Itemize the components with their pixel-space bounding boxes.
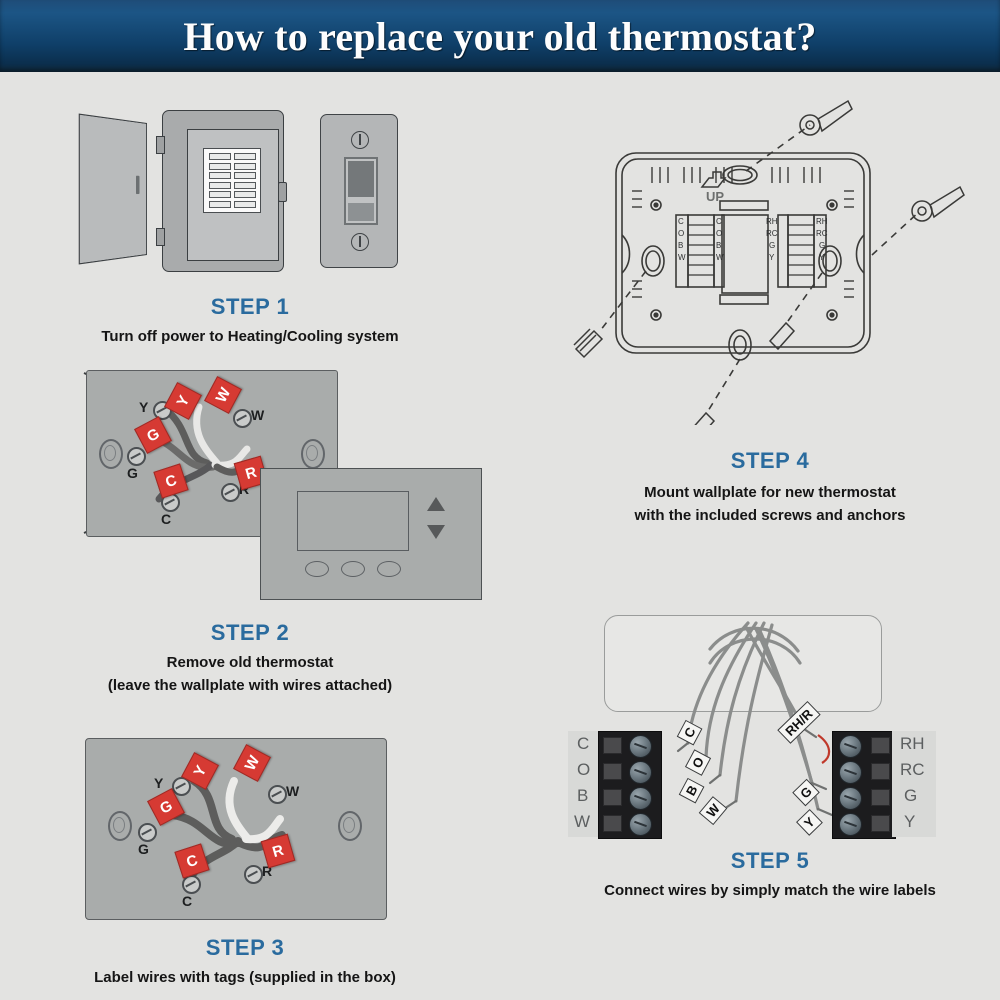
terminal-label-y: Y bbox=[139, 399, 148, 415]
terminal-clip bbox=[603, 815, 622, 832]
svg-text:RC: RC bbox=[816, 229, 828, 238]
breaker-switch bbox=[209, 191, 231, 198]
breaker-panel-door[interactable] bbox=[79, 114, 147, 265]
light-switch-toggle[interactable] bbox=[344, 157, 378, 225]
left-terminal-label-c: C bbox=[577, 734, 589, 754]
screw-icon bbox=[351, 233, 369, 251]
right-terminal-label-g: G bbox=[904, 786, 917, 806]
terminal-clip bbox=[603, 737, 622, 754]
svg-text:G: G bbox=[769, 241, 775, 250]
terminal-label-c: C bbox=[161, 511, 171, 527]
step-3-heading-wrap: STEP 3 Label wires with tags (supplied i… bbox=[30, 935, 460, 990]
toggle-lower-half-icon bbox=[348, 203, 374, 221]
terminal-screw[interactable] bbox=[629, 735, 652, 758]
step-2-heading: STEP 2 bbox=[40, 620, 460, 646]
terminal-screw[interactable] bbox=[629, 787, 652, 810]
svg-text:O: O bbox=[678, 229, 684, 238]
panel-latch-icon bbox=[278, 182, 287, 202]
right-terminal-label-rh: RH bbox=[900, 734, 925, 754]
breaker-column-left bbox=[209, 153, 231, 208]
down-arrow-icon[interactable] bbox=[427, 525, 445, 539]
step-1-illustration bbox=[70, 100, 450, 290]
terminal-label-y: Y bbox=[154, 775, 163, 791]
terminal-clip bbox=[871, 815, 890, 832]
step-5-heading: STEP 5 bbox=[560, 848, 980, 874]
breaker-switch bbox=[234, 201, 256, 208]
svg-text:O: O bbox=[716, 229, 722, 238]
right-terminal-block: RH RC G Y bbox=[832, 731, 942, 837]
svg-text:UP: UP bbox=[706, 189, 724, 204]
panel-hinge-bottom-icon bbox=[156, 228, 165, 246]
svg-text:Y: Y bbox=[819, 253, 825, 262]
step-4-heading-wrap: STEP 4 Mount wallplate for new thermosta… bbox=[560, 448, 980, 527]
svg-text:W: W bbox=[716, 253, 724, 262]
terminal-screw[interactable] bbox=[839, 813, 862, 836]
step-4-heading: STEP 4 bbox=[560, 448, 980, 474]
breaker-panel-interior bbox=[187, 129, 279, 261]
terminal-clip bbox=[871, 763, 890, 780]
terminal-screw[interactable] bbox=[839, 735, 862, 758]
terminal-label-w: W bbox=[251, 407, 264, 423]
page-title: How to replace your old thermostat? bbox=[183, 13, 816, 60]
terminal-screw[interactable] bbox=[839, 787, 862, 810]
svg-text:C: C bbox=[678, 217, 684, 226]
step-1-heading: STEP 1 bbox=[40, 294, 460, 320]
step-3-caption-line-1: Label wires with tags (supplied in the b… bbox=[30, 967, 460, 990]
svg-text:RH: RH bbox=[766, 217, 778, 226]
old-wallplate-step3: Y W G C R Y W G C R bbox=[85, 738, 387, 920]
terminal-label-w: W bbox=[286, 783, 299, 799]
terminal-label-g: G bbox=[127, 465, 138, 481]
page-banner: How to replace your old thermostat? bbox=[0, 0, 1000, 72]
svg-text:RC: RC bbox=[766, 229, 778, 238]
terminal-clip bbox=[603, 789, 622, 806]
terminal-screw-r bbox=[244, 865, 263, 884]
breaker-switch bbox=[234, 172, 256, 179]
breaker-switch bbox=[234, 191, 256, 198]
step-1-heading-wrap: STEP 1 Turn off power to Heating/Cooling… bbox=[40, 294, 460, 349]
thermostat-button-1[interactable] bbox=[305, 561, 329, 577]
breaker-switch bbox=[209, 172, 231, 179]
terminal-clip bbox=[871, 789, 890, 806]
breaker-switch bbox=[234, 153, 256, 160]
terminal-screw-r bbox=[221, 483, 240, 502]
right-terminal-label-y: Y bbox=[904, 812, 915, 832]
thermostat-button-3[interactable] bbox=[377, 561, 401, 577]
breaker-switch bbox=[234, 182, 256, 189]
left-terminal-block: C O B W bbox=[568, 731, 668, 837]
step-2-caption-line-1: Remove old thermostat bbox=[40, 652, 460, 675]
thermostat-display bbox=[297, 491, 409, 551]
door-handle-icon bbox=[136, 176, 139, 194]
step-2-illustration: Y W G C R Y W G C R bbox=[60, 360, 510, 620]
terminal-label-c: C bbox=[182, 893, 192, 909]
svg-text:W: W bbox=[678, 253, 686, 262]
left-terminal-label-b: B bbox=[577, 786, 588, 806]
step-5-illustration: C O B W RH/R G Y C O B W bbox=[560, 605, 980, 850]
breaker-switch bbox=[209, 153, 231, 160]
breaker-switch-array bbox=[203, 148, 261, 213]
breaker-switch bbox=[234, 163, 256, 170]
terminal-screw-g bbox=[138, 823, 157, 842]
thermostat-button-2[interactable] bbox=[341, 561, 365, 577]
svg-text:B: B bbox=[716, 241, 721, 250]
terminal-screw[interactable] bbox=[629, 761, 652, 784]
new-wallplate-line-art: UP COBW COBW RHRCGY RHRCGY bbox=[560, 95, 980, 425]
terminal-screw[interactable] bbox=[839, 761, 862, 784]
toggle-upper-half-icon bbox=[348, 161, 374, 197]
breaker-switch bbox=[209, 201, 231, 208]
screw-icon bbox=[351, 131, 369, 149]
terminal-label-g: G bbox=[138, 841, 149, 857]
step-1-caption-line-1: Turn off power to Heating/Cooling system bbox=[40, 326, 460, 349]
terminal-screw[interactable] bbox=[629, 813, 652, 836]
terminal-screw-w bbox=[268, 785, 287, 804]
panel-hinge-top-icon bbox=[156, 136, 165, 154]
step-3-heading: STEP 3 bbox=[30, 935, 460, 961]
breaker-switch bbox=[209, 182, 231, 189]
right-terminal-label-rc: RC bbox=[900, 760, 925, 780]
svg-text:B: B bbox=[678, 241, 683, 250]
breaker-switch bbox=[209, 163, 231, 170]
step-4-illustration: UP COBW COBW RHRCGY RHRCGY bbox=[560, 95, 980, 425]
svg-text:Y: Y bbox=[769, 253, 775, 262]
step-3-illustration: Y W G C R Y W G C R bbox=[85, 738, 385, 918]
terminal-clip bbox=[603, 763, 622, 780]
breaker-column-right bbox=[234, 153, 256, 208]
step-5-heading-wrap: STEP 5 Connect wires by simply match the… bbox=[560, 848, 980, 903]
svg-text:G: G bbox=[819, 241, 825, 250]
left-terminal-label-o: O bbox=[577, 760, 590, 780]
terminal-clip bbox=[871, 737, 890, 754]
left-block-body bbox=[598, 731, 662, 839]
terminal-screw-g bbox=[127, 447, 146, 466]
left-terminal-label-w: W bbox=[574, 812, 590, 832]
up-arrow-icon[interactable] bbox=[427, 497, 445, 511]
terminal-screw-w bbox=[233, 409, 252, 428]
step-2-heading-wrap: STEP 2 Remove old thermostat (leave the … bbox=[40, 620, 460, 697]
light-switch-plate bbox=[320, 114, 398, 268]
step-5-caption-line-1: Connect wires by simply match the wire l… bbox=[560, 880, 980, 903]
right-block-body bbox=[832, 731, 896, 839]
svg-text:RH: RH bbox=[816, 217, 828, 226]
step-4-caption-line-2: with the included screws and anchors bbox=[560, 505, 980, 528]
svg-text:C: C bbox=[716, 217, 722, 226]
old-thermostat bbox=[260, 468, 482, 600]
breaker-panel-body bbox=[162, 110, 284, 272]
step-4-caption-line-1: Mount wallplate for new thermostat bbox=[560, 482, 980, 505]
step-2-caption-line-2: (leave the wallplate with wires attached… bbox=[40, 675, 460, 698]
